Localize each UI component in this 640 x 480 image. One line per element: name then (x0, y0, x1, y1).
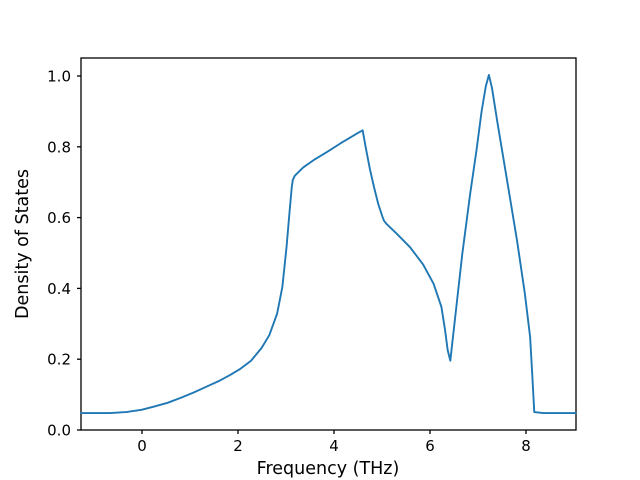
x-axis-title: Frequency (THz) (257, 459, 400, 479)
x-tick-label-0: 0 (137, 437, 147, 455)
figure-canvas: 0 2 4 6 8 0.0 0.2 0.4 0.6 0.8 1.0 Freque… (0, 0, 640, 480)
x-tick-labels: 0 2 4 6 8 (137, 437, 531, 455)
y-tick-label-0_0: 0.0 (47, 422, 71, 440)
y-tick-label-0_2: 0.2 (47, 351, 71, 369)
y-tick-label-0_6: 0.6 (47, 209, 71, 227)
x-tick-label-2: 2 (233, 437, 243, 455)
y-tick-labels: 0.0 0.2 0.4 0.6 0.8 1.0 (47, 68, 71, 440)
y-axis-title: Density of States (13, 169, 33, 319)
density-of-states-chart: 0 2 4 6 8 0.0 0.2 0.4 0.6 0.8 1.0 Freque… (0, 0, 640, 480)
x-tick-label-6: 6 (425, 437, 435, 455)
y-tick-label-0_4: 0.4 (47, 280, 71, 298)
x-tick-label-8: 8 (521, 437, 531, 455)
y-tick-label-1_0: 1.0 (47, 68, 71, 86)
plot-frame (81, 58, 576, 430)
y-tick-label-0_8: 0.8 (47, 138, 71, 156)
x-tick-label-4: 4 (329, 437, 339, 455)
